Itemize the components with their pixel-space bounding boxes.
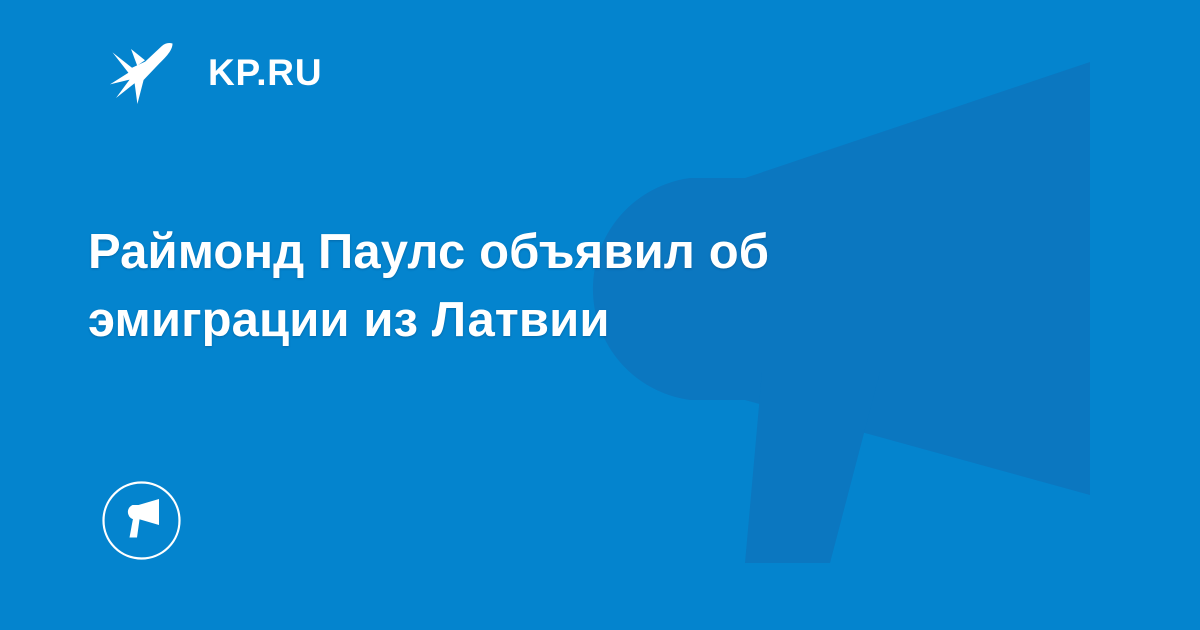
badge-circle-outline — [104, 483, 180, 559]
social-share-card: KP.RU Раймонд Паулс объявил об эмиграции… — [0, 0, 1200, 630]
swallow-bird-icon — [104, 34, 180, 110]
brand-wordmark: KP.RU — [208, 54, 322, 91]
megaphone-icon — [102, 481, 181, 560]
page-title: Раймонд Паулс объявил об эмиграции из Ла… — [88, 218, 848, 354]
megaphone-badge[interactable] — [102, 481, 181, 560]
brand-header[interactable]: KP.RU — [104, 34, 322, 110]
